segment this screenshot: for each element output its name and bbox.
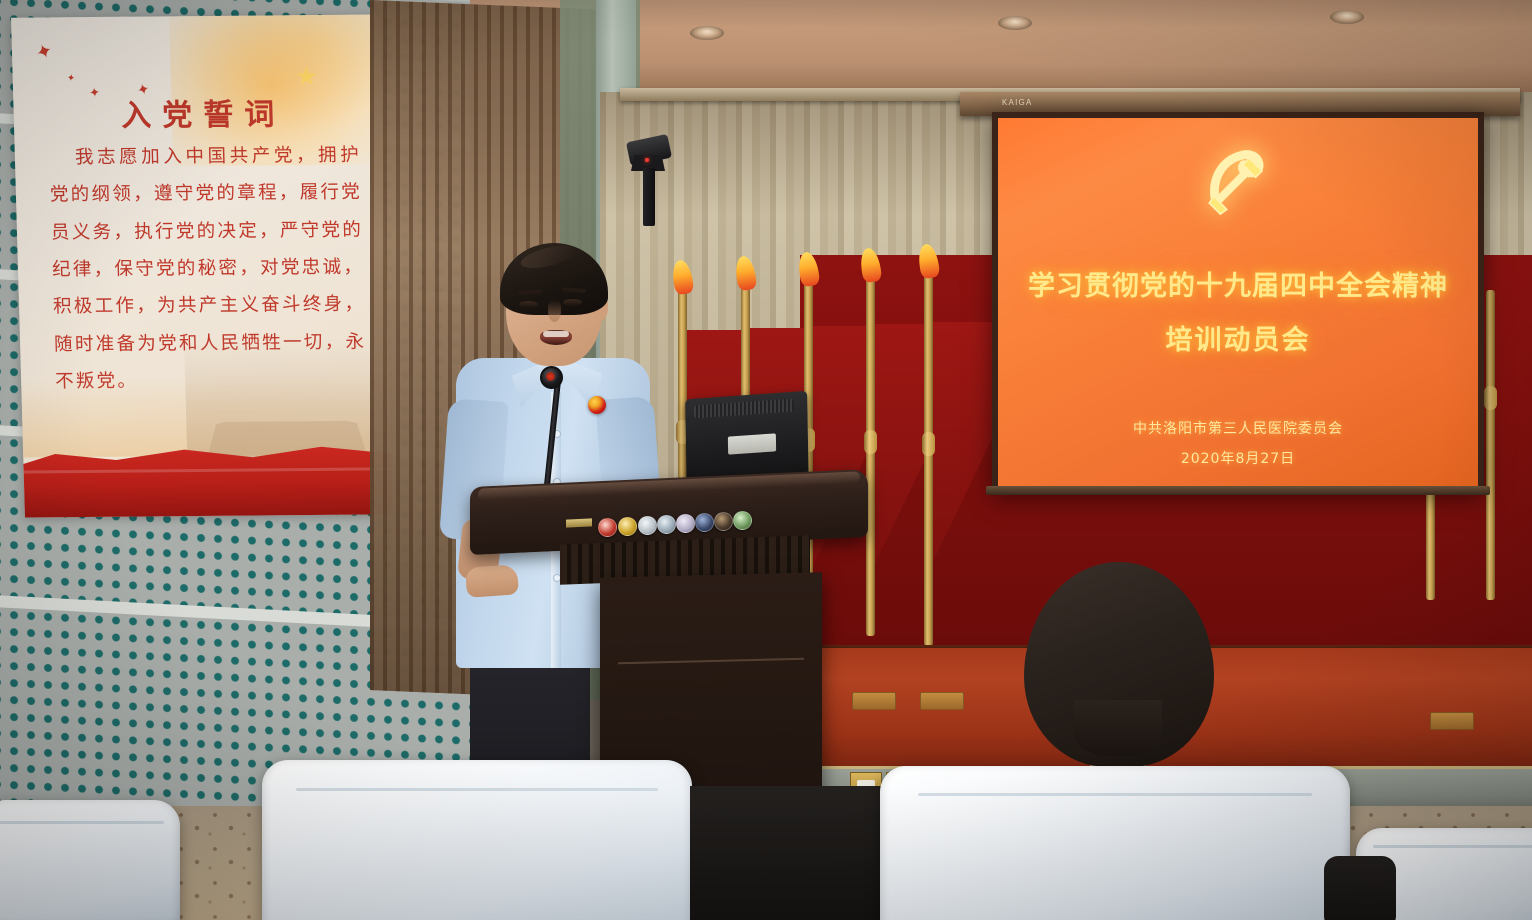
screen-title-line1: 学习贯彻党的十九届四中全会精神: [998, 264, 1478, 303]
projection-screen-bottom-bar: [986, 486, 1490, 495]
projection-screen: 学习贯彻党的十九届四中全会精神 培训动员会 中共洛阳市第三人民医院委员会 202…: [998, 118, 1478, 486]
speaker-eye-right: [563, 299, 582, 306]
recessed-downlight-icon: [1330, 10, 1364, 24]
podium-badge: [733, 511, 752, 530]
speaker-teeth: [543, 331, 569, 337]
speaker-eye-left: [519, 301, 538, 308]
stage-floor-socket: [920, 692, 964, 710]
stage-floor-socket: [1430, 712, 1474, 730]
pole-knob: [1484, 386, 1497, 410]
audience-member-hair-nape: [1074, 700, 1162, 756]
chair-3: [880, 766, 1350, 920]
screen-date: 2020年8月27日: [998, 448, 1478, 468]
monitor-spec-label: [728, 433, 776, 454]
stage-floor-socket: [852, 692, 896, 710]
tiananmen-illustration: [184, 336, 387, 458]
brass-nameplate: [566, 518, 592, 527]
podium-badge: [676, 514, 695, 533]
flag-pole: [1486, 290, 1495, 600]
podium-badge: [618, 517, 637, 536]
podium-badge: [695, 513, 714, 532]
screen-title-line2: 培训动员会: [998, 318, 1478, 357]
recessed-downlight-icon: [998, 16, 1032, 30]
pole-knob: [864, 430, 877, 454]
microphone-head-icon: [540, 366, 563, 389]
chair-2: [262, 760, 692, 920]
podium-badge: [714, 512, 733, 531]
recessed-downlight-icon: [690, 26, 724, 40]
pole-knob: [922, 432, 935, 456]
bird-icon: ✦: [32, 37, 57, 66]
bird-icon: ✦: [66, 73, 76, 85]
chair-1: [0, 800, 180, 920]
screen-brand-label: KAIGA: [1002, 98, 1032, 107]
poster-title: 入党誓词: [13, 88, 382, 135]
projection-screen-frame: 学习贯彻党的十九届四中全会精神 培训动员会 中共洛阳市第三人民医院委员会 202…: [992, 112, 1484, 492]
party-oath-poster: ✦ ✦ ✦ ✦ ★ 入党誓词 我志愿加入中国共产党，拥护党的纲领，遵守党的章程，…: [11, 14, 393, 517]
meeting-room-photo: ✦ ✦ ✦ ✦ ★ 入党誓词 我志愿加入中国共产党，拥护党的纲领，遵守党的章程，…: [0, 0, 1532, 920]
flag-pole: [924, 274, 933, 646]
party-emblem-pin: [588, 396, 606, 414]
chair-shadow: [690, 786, 890, 920]
flag-pole: [866, 278, 875, 636]
chair-shadow: [1324, 856, 1396, 920]
speaker-hand-left: [465, 564, 519, 598]
podium-badge: [598, 518, 617, 537]
hammer-and-sickle-icon: [1195, 136, 1281, 222]
speaker-nose: [548, 300, 561, 322]
podium-badge: [638, 516, 657, 535]
podium-badge: [657, 515, 676, 534]
camera-arm: [643, 168, 655, 226]
camera-led-indicator: [645, 158, 649, 162]
screen-organization: 中共洛阳市第三人民医院委员会: [998, 418, 1478, 438]
